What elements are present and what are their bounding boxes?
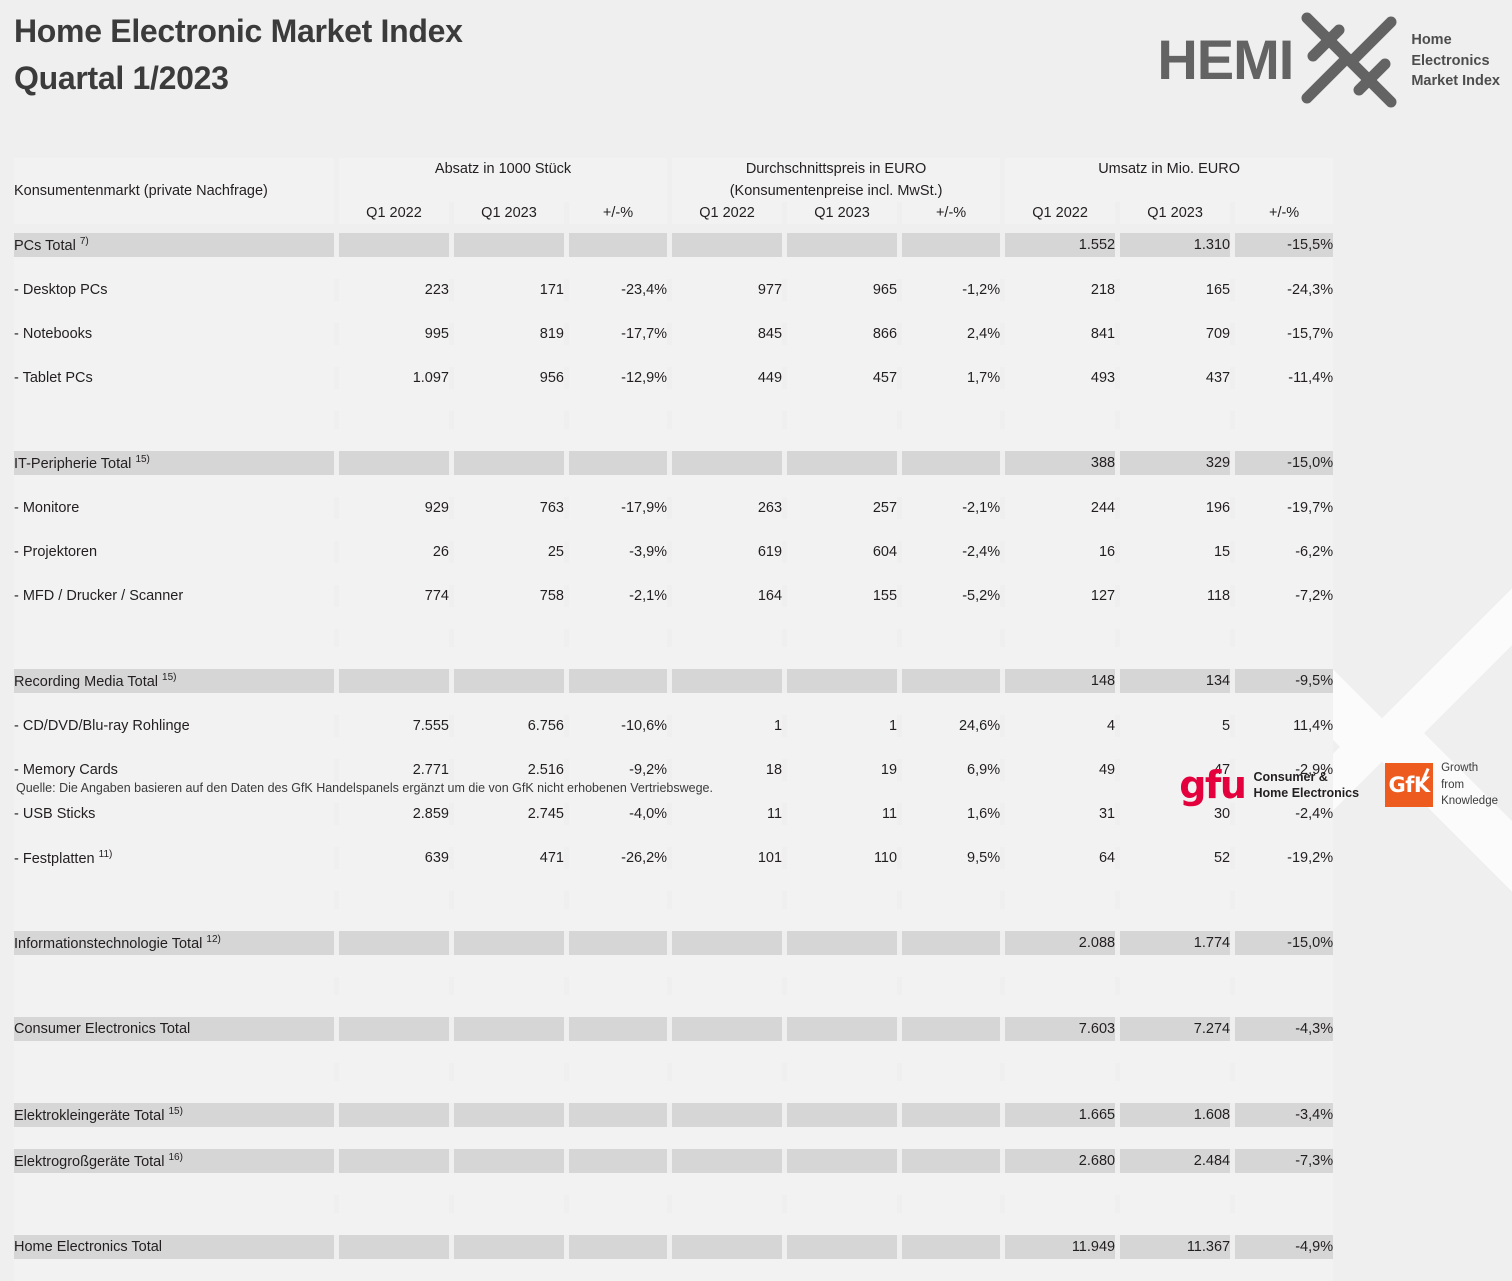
cell-value: 1.774: [1120, 931, 1230, 955]
cell-change-percent: 11,4%: [1235, 715, 1333, 737]
cell-change-percent: [569, 1235, 667, 1259]
column-header-9: +/-%: [1235, 202, 1333, 224]
row-separator-line: [14, 1041, 1333, 1063]
row-separator: [14, 737, 1333, 759]
gfk-tagline-line-2: from: [1441, 777, 1498, 794]
cell-value: 929: [339, 497, 449, 519]
spacer-cell: [787, 224, 897, 233]
cell-value: 49: [1005, 759, 1115, 781]
table-row: - Desktop PCs 223171-23,4%977965-1,2%218…: [14, 279, 1333, 301]
cell-change-percent: -19,2%: [1235, 847, 1333, 869]
column-group-subtitle-3: [1005, 180, 1333, 202]
cell-change-percent: -9,2%: [569, 759, 667, 781]
table-spacer-row: [14, 1063, 1333, 1081]
cell-value: [1120, 411, 1230, 429]
row-separator: [14, 1081, 1333, 1103]
cell-value: [454, 1063, 564, 1081]
row-separator: [14, 519, 1333, 541]
row-separator-line: [14, 257, 1333, 279]
cell-value: 758: [454, 585, 564, 607]
cell-value: [1005, 977, 1115, 995]
row-label: - Memory Cards: [14, 759, 334, 781]
cell-value: [672, 1235, 782, 1259]
cell-value: 1.608: [1120, 1103, 1230, 1127]
cell-change-percent: -26,2%: [569, 847, 667, 869]
row-label: - Festplatten 11): [14, 847, 334, 869]
row-separator-line: [14, 607, 1333, 629]
cell-value: [454, 1103, 564, 1127]
cell-value: 2.484: [1120, 1149, 1230, 1173]
row-separator: [14, 301, 1333, 323]
cell-change-percent: -19,7%: [1235, 497, 1333, 519]
column-header-3: +/-%: [569, 202, 667, 224]
cell-value: 18: [672, 759, 782, 781]
row-separator: [14, 909, 1333, 931]
cell-change-percent: -23,4%: [569, 279, 667, 301]
row-separator-line: [14, 563, 1333, 585]
hemix-logo: HEMI Home Electronics Market Index: [1139, 8, 1500, 112]
cell-value: 1: [787, 715, 897, 737]
row-separator: [14, 1173, 1333, 1195]
row-label: - USB Sticks: [14, 803, 334, 825]
cell-value: 763: [454, 497, 564, 519]
cell-value: [454, 411, 564, 429]
table-row: Informationstechnologie Total 12)2.0881.…: [14, 931, 1333, 955]
cell-change-percent: [569, 669, 667, 693]
cell-change-percent: [569, 411, 667, 429]
cell-change-percent: -2,4%: [902, 541, 1000, 563]
cell-change-percent: -12,9%: [569, 367, 667, 389]
table-row: Consumer Electronics Total 7.6037.274-4,…: [14, 1017, 1333, 1041]
cell-value: 19: [787, 759, 897, 781]
cell-change-percent: -6,2%: [1235, 541, 1333, 563]
cell-value: [1005, 1063, 1115, 1081]
row-label: Home Electronics Total: [14, 1235, 334, 1259]
cell-value: 774: [339, 585, 449, 607]
cell-value: [787, 891, 897, 909]
row-label-footnote: 15): [135, 454, 149, 465]
page-header: Home Electronic Market Index Quartal 1/2…: [0, 0, 1512, 132]
cell-change-percent: -4,3%: [1235, 1017, 1333, 1041]
cell-change-percent: 6,9%: [902, 759, 1000, 781]
gfu-tagline: Consumer & Home Electronics: [1254, 769, 1360, 802]
row-label: - Tablet PCs: [14, 367, 334, 389]
cell-value: [1120, 977, 1230, 995]
row-separator: [14, 389, 1333, 411]
row-label: [14, 1195, 334, 1213]
row-label: Informationstechnologie Total 12): [14, 931, 334, 955]
cell-value: [454, 891, 564, 909]
row-label: [14, 1063, 334, 1081]
row-separator: [14, 429, 1333, 451]
cell-change-percent: [1235, 1063, 1333, 1081]
row-label: [14, 977, 334, 995]
table-row: Elektrokleingeräte Total 15)1.6651.608-3…: [14, 1103, 1333, 1127]
row-separator-line: [14, 693, 1333, 715]
row-separator-line: [14, 1213, 1333, 1235]
cell-value: 956: [454, 367, 564, 389]
cell-value: 171: [454, 279, 564, 301]
cell-value: 257: [787, 497, 897, 519]
table-spacer-row: [14, 629, 1333, 647]
cell-value: 7.274: [1120, 1017, 1230, 1041]
row-separator-line: [14, 955, 1333, 977]
gfk-tagline: Growth from Knowledge: [1441, 760, 1498, 810]
cell-value: [787, 451, 897, 475]
row-separator-line: [14, 1173, 1333, 1195]
cell-value: [339, 977, 449, 995]
cell-value: [787, 1149, 897, 1173]
row-label: - Desktop PCs: [14, 279, 334, 301]
row-separator-line: [14, 909, 1333, 931]
cell-value: 6.756: [454, 715, 564, 737]
cell-value: [787, 411, 897, 429]
column-header-4: Q1 2022: [672, 202, 782, 224]
cell-value: [339, 1017, 449, 1041]
table-row: - MFD / Drucker / Scanner 774758-2,1%164…: [14, 585, 1333, 607]
cell-value: [454, 1149, 564, 1173]
cell-value: 329: [1120, 451, 1230, 475]
gfu-tagline-line-1: Consumer &: [1254, 769, 1360, 785]
row-label: [14, 629, 334, 647]
cell-value: [787, 931, 897, 955]
table-header-row-group-titles: Absatz in 1000 StückDurchschnittspreis i…: [14, 158, 1333, 180]
cell-change-percent: -11,4%: [1235, 367, 1333, 389]
cell-change-percent: [902, 411, 1000, 429]
table-header-row-subtitles: Konsumentenmarkt (private Nachfrage)(Kon…: [14, 180, 1333, 202]
cell-value: [787, 1195, 897, 1213]
cell-value: [339, 1063, 449, 1081]
cell-value: 457: [787, 367, 897, 389]
column-header-6: +/-%: [902, 202, 1000, 224]
cell-value: [1120, 1063, 1230, 1081]
cell-value: [339, 451, 449, 475]
cell-value: [339, 1103, 449, 1127]
cell-change-percent: -2,1%: [569, 585, 667, 607]
cell-change-percent: -4,9%: [1235, 1235, 1333, 1259]
cell-value: [454, 1195, 564, 1213]
row-label-footnote: 16): [168, 1152, 182, 1163]
cell-value: 223: [339, 279, 449, 301]
header-spacer-row: [14, 224, 1333, 233]
row-label: [14, 891, 334, 909]
cell-value: [787, 1063, 897, 1081]
cell-value: 218: [1005, 279, 1115, 301]
cell-change-percent: -15,7%: [1235, 323, 1333, 345]
column-header-8: Q1 2023: [1120, 202, 1230, 224]
table-row: - Projektoren 2625-3,9%619604-2,4%1615-6…: [14, 541, 1333, 563]
cell-change-percent: [902, 1017, 1000, 1041]
row-separator-line: [14, 475, 1333, 497]
cell-value: [787, 233, 897, 257]
cell-value: 4: [1005, 715, 1115, 737]
cell-value: 11.949: [1005, 1235, 1115, 1259]
row-label: IT-Peripherie Total 15): [14, 451, 334, 475]
cell-change-percent: [902, 629, 1000, 647]
row-separator-line: [14, 1259, 1333, 1281]
cell-change-percent: -4,0%: [569, 803, 667, 825]
cell-value: [454, 451, 564, 475]
row-separator: [14, 1127, 1333, 1149]
cell-value: [339, 629, 449, 647]
table-row: Elektrogroßgeräte Total 16)2.6802.484-7,…: [14, 1149, 1333, 1173]
cell-value: 471: [454, 847, 564, 869]
cell-change-percent: -5,2%: [902, 585, 1000, 607]
cell-value: [672, 1195, 782, 1213]
cell-change-percent: [902, 233, 1000, 257]
cell-value: [787, 1235, 897, 1259]
column-header-2: Q1 2023: [454, 202, 564, 224]
cell-change-percent: -7,3%: [1235, 1149, 1333, 1173]
market-index-table-container: Absatz in 1000 StückDurchschnittspreis i…: [14, 158, 1298, 1281]
cell-value: [672, 669, 782, 693]
cell-value: 977: [672, 279, 782, 301]
hemix-wordmark: HEMI: [1157, 32, 1293, 88]
row-separator-line: [14, 737, 1333, 759]
cell-value: 1.665: [1005, 1103, 1115, 1127]
row-separator: [14, 1041, 1333, 1063]
cell-value: 64: [1005, 847, 1115, 869]
cell-change-percent: [902, 669, 1000, 693]
row-separator: [14, 1213, 1333, 1235]
column-header-7: Q1 2022: [1005, 202, 1115, 224]
table-row: - Tablet PCs 1.097956-12,9%4494571,7%493…: [14, 367, 1333, 389]
gfk-logo: GfK Growth from Knowledge: [1385, 760, 1498, 810]
table-spacer-row: [14, 411, 1333, 429]
cell-value: 7.555: [339, 715, 449, 737]
table-row: - Memory Cards 2.7712.516-9,2%18196,9%49…: [14, 759, 1333, 781]
row-label: - MFD / Drucker / Scanner: [14, 585, 334, 607]
cell-value: 965: [787, 279, 897, 301]
cell-value: 101: [672, 847, 782, 869]
cell-value: [454, 629, 564, 647]
cell-value: [1005, 411, 1115, 429]
cell-change-percent: [569, 629, 667, 647]
cell-change-percent: [569, 977, 667, 995]
cell-change-percent: [569, 891, 667, 909]
hemix-logo-subtitle: Home Electronics Market Index: [1411, 30, 1500, 92]
row-separator: [14, 693, 1333, 715]
cell-value: [339, 411, 449, 429]
row-separator: [14, 257, 1333, 279]
cell-value: [1120, 891, 1230, 909]
row-label-footnote: 11): [99, 849, 113, 860]
spacer-cell: [672, 224, 782, 233]
cell-value: 16: [1005, 541, 1115, 563]
cell-change-percent: [1235, 977, 1333, 995]
cell-value: [672, 1017, 782, 1041]
cell-value: [672, 977, 782, 995]
row-separator-line: [14, 301, 1333, 323]
cell-change-percent: [902, 1063, 1000, 1081]
cell-value: [672, 891, 782, 909]
cell-change-percent: [569, 1017, 667, 1041]
table-spacer-row: [14, 891, 1333, 909]
row-label: Consumer Electronics Total: [14, 1017, 334, 1041]
cell-value: 449: [672, 367, 782, 389]
cell-value: 619: [672, 541, 782, 563]
table-row: - Notebooks 995819-17,7%8458662,4%841709…: [14, 323, 1333, 345]
row-separator-line: [14, 345, 1333, 367]
cell-value: 2.680: [1005, 1149, 1115, 1173]
column-header-1: Q1 2022: [339, 202, 449, 224]
cell-change-percent: [569, 451, 667, 475]
cell-value: 31: [1005, 803, 1115, 825]
gfk-logo-box: GfK: [1385, 763, 1433, 807]
row-label-footnote: 12): [206, 934, 220, 945]
row-label-footnote: 15): [169, 1106, 183, 1117]
cell-change-percent: [569, 931, 667, 955]
table-corner-label: Konsumentenmarkt (private Nachfrage): [14, 180, 334, 202]
row-separator: [14, 607, 1333, 629]
row-separator-line: [14, 647, 1333, 669]
cell-change-percent: -2,1%: [902, 497, 1000, 519]
cell-change-percent: -10,6%: [569, 715, 667, 737]
cell-change-percent: -15,5%: [1235, 233, 1333, 257]
cell-value: [672, 931, 782, 955]
cell-value: 709: [1120, 323, 1230, 345]
table-row: - Monitore 929763-17,9%263257-2,1%244196…: [14, 497, 1333, 519]
cell-value: [339, 233, 449, 257]
cell-value: 2.088: [1005, 931, 1115, 955]
cell-change-percent: [569, 1103, 667, 1127]
row-label-footnote: 7): [80, 236, 89, 247]
table-row: - USB Sticks 2.8592.745-4,0%11111,6%3130…: [14, 803, 1333, 825]
row-separator-line: [14, 869, 1333, 891]
row-separator: [14, 475, 1333, 497]
cell-change-percent: -3,4%: [1235, 1103, 1333, 1127]
cell-change-percent: [902, 891, 1000, 909]
cell-change-percent: [1235, 1195, 1333, 1213]
cell-value: 15: [1120, 541, 1230, 563]
header-corner-blank: [14, 158, 334, 180]
cell-value: 388: [1005, 451, 1115, 475]
cell-value: 134: [1120, 669, 1230, 693]
row-label: - Projektoren: [14, 541, 334, 563]
cell-change-percent: 9,5%: [902, 847, 1000, 869]
cell-change-percent: [569, 233, 667, 257]
table-row: - Festplatten 11)639471-26,2%1011109,5%6…: [14, 847, 1333, 869]
row-label: Elektrokleingeräte Total 15): [14, 1103, 334, 1127]
row-label: [14, 411, 334, 429]
cell-change-percent: [902, 1103, 1000, 1127]
spacer-cell: [454, 224, 564, 233]
spacer-cell: [14, 224, 334, 233]
cell-change-percent: 2,4%: [902, 323, 1000, 345]
cell-value: 493: [1005, 367, 1115, 389]
cell-value: 639: [339, 847, 449, 869]
cell-value: 2.516: [454, 759, 564, 781]
row-separator-line: [14, 1081, 1333, 1103]
row-label: - Monitore: [14, 497, 334, 519]
cell-value: [787, 669, 897, 693]
cell-value: [454, 1017, 564, 1041]
cell-value: [787, 1103, 897, 1127]
gfu-tagline-line-2: Home Electronics: [1254, 785, 1360, 801]
spacer-cell: [1005, 224, 1115, 233]
gfu-logo: gfu Consumer & Home Electronics: [1179, 768, 1359, 802]
cell-value: [339, 669, 449, 693]
cell-value: [454, 931, 564, 955]
row-separator-line: [14, 519, 1333, 541]
cell-change-percent: [569, 1063, 667, 1081]
row-label: Elektrogroßgeräte Total 16): [14, 1149, 334, 1173]
cell-value: [1005, 891, 1115, 909]
hemix-logo-sub-1: Home: [1411, 30, 1500, 51]
cell-value: [339, 891, 449, 909]
cell-value: 1: [672, 715, 782, 737]
table-header: Absatz in 1000 StückDurchschnittspreis i…: [14, 158, 1333, 233]
cell-value: [1005, 629, 1115, 647]
cell-value: 1.552: [1005, 233, 1115, 257]
cell-value: [339, 1235, 449, 1259]
hemix-logo-sub-3: Market Index: [1411, 71, 1500, 92]
cell-change-percent: -17,7%: [569, 323, 667, 345]
cell-value: [672, 411, 782, 429]
source-note: Quelle: Die Angaben basieren auf den Dat…: [16, 781, 713, 795]
row-separator: [14, 955, 1333, 977]
cell-value: 1.310: [1120, 233, 1230, 257]
cell-value: 155: [787, 585, 897, 607]
cell-value: [672, 1149, 782, 1173]
cell-value: 11: [672, 803, 782, 825]
cell-value: 604: [787, 541, 897, 563]
table-header-row-periods: Q1 2022Q1 2023+/-%Q1 2022Q1 2023+/-%Q1 2…: [14, 202, 1333, 224]
cell-value: 2.859: [339, 803, 449, 825]
row-label: Recording Media Total 15): [14, 669, 334, 693]
cell-value: [339, 1195, 449, 1213]
cell-change-percent: -17,9%: [569, 497, 667, 519]
cell-value: [1120, 1195, 1230, 1213]
cell-change-percent: [902, 451, 1000, 475]
cell-value: 7.603: [1005, 1017, 1115, 1041]
cell-value: 819: [454, 323, 564, 345]
cell-value: [454, 1235, 564, 1259]
cell-value: 118: [1120, 585, 1230, 607]
cell-value: 2.745: [454, 803, 564, 825]
market-index-table: Absatz in 1000 StückDurchschnittspreis i…: [14, 158, 1333, 1281]
row-separator: [14, 345, 1333, 367]
cell-change-percent: [1235, 891, 1333, 909]
row-separator: [14, 995, 1333, 1017]
cell-value: [787, 629, 897, 647]
cell-value: 11: [787, 803, 897, 825]
column-group-title-1: Absatz in 1000 Stück: [339, 158, 667, 180]
column-group-subtitle-2: (Konsumentenpreise incl. MwSt.): [672, 180, 1000, 202]
spacer-cell: [1235, 224, 1333, 233]
hemix-logo-sub-2: Electronics: [1411, 51, 1500, 72]
cell-value: 110: [787, 847, 897, 869]
row-label: PCs Total 7): [14, 233, 334, 257]
spacer-cell: [339, 224, 449, 233]
footer-logos: gfu Consumer & Home Electronics GfK Grow…: [1179, 760, 1498, 810]
table-row: PCs Total 7)1.5521.310-15,5%: [14, 233, 1333, 257]
cell-value: [454, 669, 564, 693]
row-separator-line: [14, 389, 1333, 411]
cell-change-percent: -9,5%: [1235, 669, 1333, 693]
row-separator-line: [14, 429, 1333, 451]
page-title: Home Electronic Market Index Quartal 1/2…: [14, 8, 463, 103]
cell-change-percent: [569, 1195, 667, 1213]
table-row: Recording Media Total 15)148134-9,5%: [14, 669, 1333, 693]
cell-value: 127: [1005, 585, 1115, 607]
cell-value: [339, 931, 449, 955]
cell-value: [454, 233, 564, 257]
cell-change-percent: -15,0%: [1235, 931, 1333, 955]
gfu-wordmark: gfu: [1179, 768, 1245, 802]
cell-value: 1.097: [339, 367, 449, 389]
cell-change-percent: -15,0%: [1235, 451, 1333, 475]
